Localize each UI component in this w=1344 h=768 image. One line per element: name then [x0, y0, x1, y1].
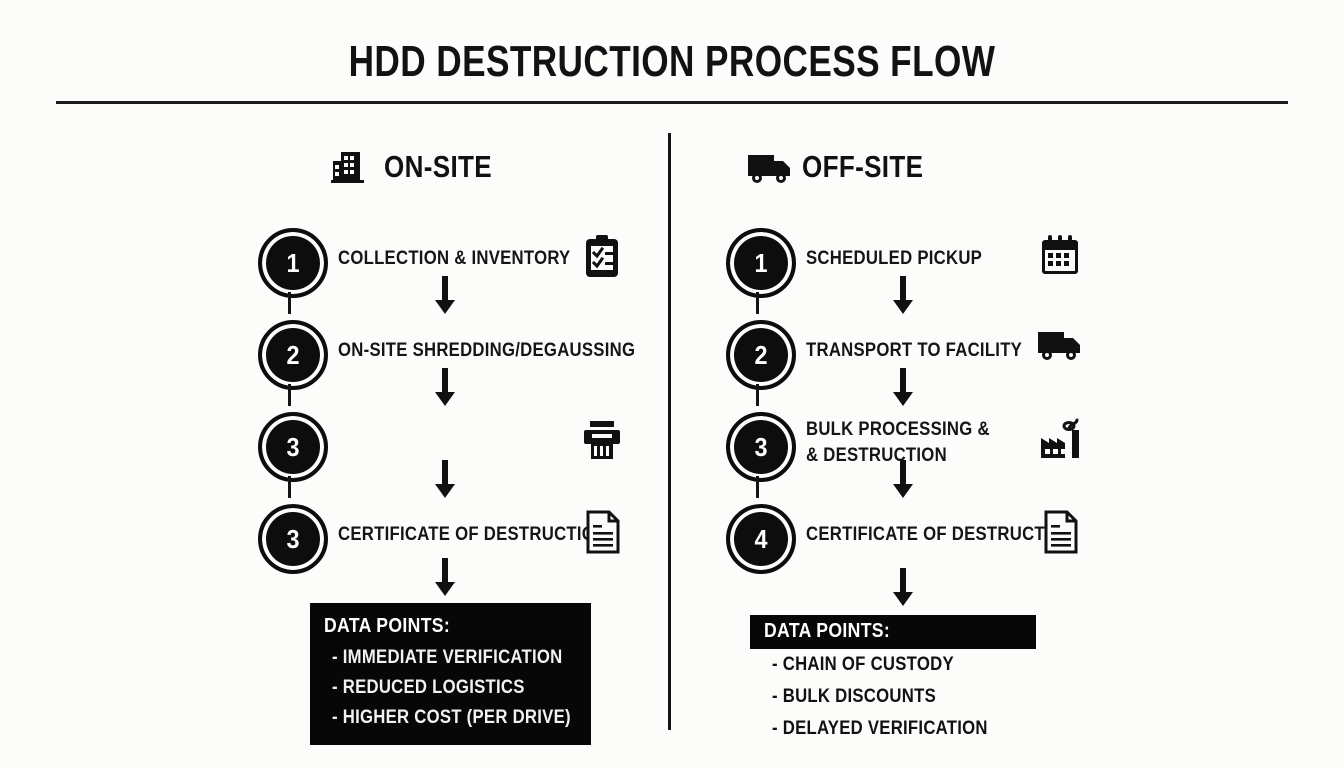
data-points-item: - BULK DISCOUNTS — [750, 681, 1036, 713]
data-points-item-text: - BULK DISCOUNTS — [772, 684, 1004, 710]
data-points-item: - REDUCED LOGISTICS — [310, 673, 591, 703]
step-number: 2 — [740, 332, 781, 378]
data-points-title-text: DATA POINTS: — [764, 620, 1003, 643]
step-badge: 1 — [726, 228, 796, 298]
data-points-title: DATA POINTS: — [750, 615, 1036, 649]
step-row: 4 CERTIFICATE OF DESTRUCTION — [718, 494, 1338, 586]
factory-icon — [1036, 416, 1084, 464]
truck-icon — [1036, 324, 1084, 372]
step-number: 3 — [272, 516, 313, 562]
data-points-title-text: DATA POINTS: — [324, 615, 559, 638]
step-row: 1 SCHEDULED PICKUP — [718, 218, 1338, 310]
step-label: ON-SITE SHREDDING/DEGAUSSING — [338, 310, 658, 392]
step-badge: 2 — [258, 320, 328, 390]
data-points-box-off-site: DATA POINTS: - CHAIN OF CUSTODY - BULK D… — [750, 615, 1036, 745]
column-label-on-site: ON-SITE — [384, 149, 492, 185]
data-points-item: - IMMEDIATE VERIFICATION — [310, 643, 591, 673]
data-points-item-text: - HIGHER COST (PER DRIVE) — [332, 705, 560, 731]
step-label-line: ON-SITE SHREDDING/DEGAUSSING — [338, 338, 620, 364]
steps-list-off-site: 1 SCHEDULED PICKUP — [718, 218, 1338, 586]
step-number: 1 — [272, 240, 313, 286]
data-points-box-on-site: DATA POINTS: - IMMEDIATE VERIFICATION - … — [310, 603, 591, 745]
step-number: 2 — [272, 332, 313, 378]
flow-arrow-icon — [890, 568, 916, 608]
step-number: 3 — [272, 424, 313, 470]
clipboard-checklist-icon — [578, 232, 626, 280]
step-badge: 4 — [726, 504, 796, 574]
column-off-site: OFF-SITE 1 SCHEDULED PICKUP — [718, 128, 1338, 748]
calendar-icon — [1036, 232, 1084, 280]
building-icon — [328, 147, 368, 187]
column-header-on-site: ON-SITE — [328, 138, 513, 196]
step-badge: 1 — [258, 228, 328, 298]
step-row: 2 TRANSPORT TO FACILITY — [718, 310, 1338, 402]
column-label-off-site-text: OFF-SITE — [802, 149, 923, 184]
step-badge: 3 — [258, 412, 328, 482]
step-badge: 2 — [726, 320, 796, 390]
title-divider-rule — [56, 101, 1288, 104]
truck-icon — [746, 147, 786, 187]
data-points-item: - HIGHER COST (PER DRIVE) — [310, 703, 591, 733]
data-points-item: - CHAIN OF CUSTODY — [750, 649, 1036, 681]
shredder-icon — [578, 416, 626, 464]
data-points-title: DATA POINTS: — [310, 613, 591, 643]
document-icon — [578, 508, 626, 556]
data-points-item-text: - DELAYED VERIFICATION — [772, 716, 1004, 742]
step-number: 3 — [740, 424, 781, 470]
column-header-off-site: OFF-SITE — [746, 138, 946, 196]
data-points-item-text: - REDUCED LOGISTICS — [332, 675, 560, 701]
step-row: 3 BULK PROCESSING & & DESTRUCTION — [718, 402, 1338, 494]
step-badge: 3 — [258, 504, 328, 574]
data-points-item-text: - CHAIN OF CUSTODY — [772, 652, 1004, 678]
step-badge: 3 — [726, 412, 796, 482]
column-label-on-site-text: ON-SITE — [384, 149, 492, 184]
step-number: 4 — [740, 516, 781, 562]
page-title: HDD DESTRUCTION PROCESS FLOW — [134, 36, 1209, 88]
flow-arrow-icon — [432, 558, 458, 598]
data-points-item: - DELAYED VERIFICATION — [750, 713, 1036, 745]
infographic-canvas: HDD DESTRUCTION PROCESS FLOW — [0, 0, 1344, 768]
document-icon — [1036, 508, 1084, 556]
data-points-item-text: - IMMEDIATE VERIFICATION — [332, 645, 560, 671]
step-number: 1 — [740, 240, 781, 286]
column-label-off-site: OFF-SITE — [802, 149, 923, 185]
